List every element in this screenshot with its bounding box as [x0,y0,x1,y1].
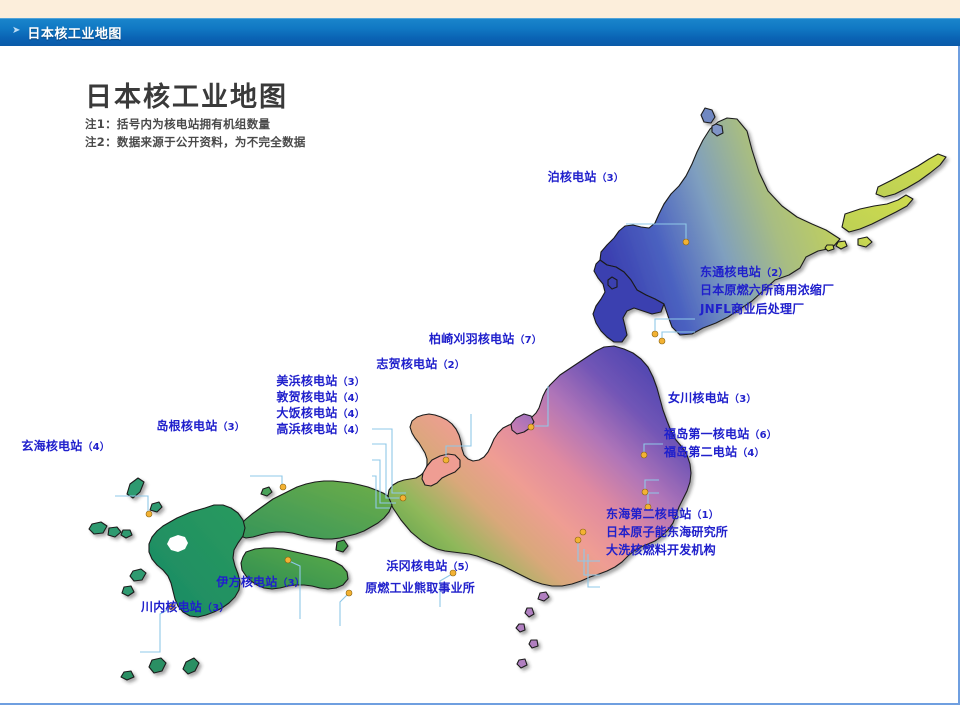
marker-ikata [285,557,291,563]
island-tanegashima [183,658,199,674]
label-fukushima-daiichi-count: （6） [749,430,777,441]
marker-rokkasho [659,338,665,344]
label-hamaoka-text: 浜冈核电站 [386,559,447,573]
island-kozushima [516,624,525,632]
label-shimane[interactable]: 岛根核电站（3） [80,419,245,435]
label-sendai-text: 川内核电站 [141,600,202,614]
marker-higashidori [652,331,658,337]
island-rebun [701,108,715,123]
label-tomari-text: 泊核电站 [548,170,597,184]
top-cream-strip [0,0,960,18]
island-oki [261,487,272,496]
label-takahama-count: （4） [337,425,365,436]
marker-tomari [683,239,689,245]
marker-genkai [146,511,152,517]
content-stage: 日本核工业地图 注1：括号内为核电站拥有机组数量 注2：数据来源于公开资料，为不… [0,46,958,703]
label-kumatori[interactable]: 原燃工业熊取事业所 [200,581,475,597]
island-tsushima [127,478,144,498]
label-shika-count: （2） [437,360,465,371]
label-jnfl-text: JNFL商业后处理厂 [700,302,804,316]
label-onagawa[interactable]: 女川核电站（3） [668,391,757,407]
label-genkai-count: （4） [82,442,110,453]
label-shika[interactable]: 志贺核电站（2） [300,357,465,373]
label-higashidori[interactable]: 东通核电站（2） [700,265,789,281]
region-chugoku [238,481,392,539]
label-fukushima-daini[interactable]: 福岛第二电站（4） [664,445,765,461]
label-kashiwazaki-text: 柏崎刈羽核电站 [429,332,514,346]
label-takahama-text: 高浜核电站 [276,422,337,436]
label-jnfl-reprocessing[interactable]: JNFL商业后处理厂 [700,302,804,318]
label-rokkasho-enrichment[interactable]: 日本原燃六所商用浓缩厂 [700,283,834,299]
island-habomai [836,241,847,249]
island-niijima [525,608,534,617]
chevron-right-icon: ➤ [12,26,20,36]
label-fukushima-daiichi[interactable]: 福岛第一核电站（6） [664,427,777,443]
label-mihama[interactable]: 美浜核电站（3） [180,374,365,390]
marker-oarai [580,529,586,535]
label-tokai-research-text: 日本原子能东海研究所 [606,525,728,539]
label-rokkasho-text: 日本原燃六所商用浓缩厂 [700,283,834,297]
label-genkai[interactable]: 玄海核电站（4） [0,439,110,455]
island-kunashiri [842,195,913,232]
island-koshiki [122,586,134,596]
island-awaji [336,540,348,552]
island-goto-1 [89,522,107,534]
label-tokai-2[interactable]: 东海第二核电站（1） [606,507,719,523]
marker-onagawa [641,452,647,458]
label-onagawa-text: 女川核电站 [668,391,729,405]
leader-shimane [250,476,282,486]
island-miyakejima [529,640,538,648]
label-higashidori-text: 东通核电站 [700,265,761,279]
label-tokai-research[interactable]: 日本原子能东海研究所 [606,525,728,541]
label-shika-text: 志贺核电站 [376,357,437,371]
label-fukushima-daini-text: 福岛第二电站 [664,445,737,459]
label-higashidori-count: （2） [761,268,789,279]
label-hamaoka[interactable]: 浜冈核电站（5） [315,559,475,575]
label-genkai-text: 玄海核电站 [21,439,82,453]
label-ohi-text: 大饭核电站 [276,406,337,420]
marker-fukushima1 [642,489,648,495]
island-iki [150,502,162,512]
label-tomari-count: （3） [596,173,624,184]
label-fukushima-daiichi-text: 福岛第一核电站 [664,427,749,441]
label-onagawa-count: （3） [729,394,757,405]
label-fukushima-daini-count: （4） [737,448,765,459]
island-izu-oshima [538,592,549,601]
marker-shika [443,457,449,463]
label-tomari[interactable]: 泊核电站（3） [409,170,624,186]
label-kumatori-text: 原燃工业熊取事业所 [365,581,475,595]
label-ohi-count: （4） [337,409,365,420]
label-shimane-text: 岛根核电站 [156,419,217,433]
label-tokai-2-count: （1） [691,510,719,521]
island-shikotan [858,237,872,247]
label-mihama-count: （3） [337,377,365,388]
window-titlebar: ➤ 日本核工业地图 [0,18,960,46]
label-tsuruga-text: 敦贺核电站 [276,390,337,404]
island-goto-2 [108,527,121,537]
label-tsuruga[interactable]: 敦贺核电站（4） [180,390,365,406]
titlebar-title: 日本核工业地图 [27,23,122,42]
label-oarai[interactable]: 大洗核燃料开发机构 [606,543,716,559]
marker-wakasa-cluster [400,495,406,501]
label-tsuruga-count: （4） [337,393,365,404]
label-mihama-text: 美浜核电站 [276,374,337,388]
label-shimane-count: （3） [217,422,245,433]
label-sendai[interactable]: 川内核电站（3） [141,600,230,616]
label-tokai-2-text: 东海第二核电站 [606,507,691,521]
island-kuchinoerabu [121,671,134,680]
island-etorofu [876,154,946,197]
island-goto-3 [121,530,132,538]
label-hamaoka-count: （5） [447,562,475,573]
label-kashiwazaki-count: （7） [514,335,542,346]
island-habomai-2 [825,245,834,251]
island-yakushima [149,658,166,673]
marker-tokai2 [575,537,581,543]
label-oarai-text: 大洗核燃料开发机构 [606,543,716,557]
page-root: ➤ 日本核工业地图 日本核工业地图 注1：括号内为核电站拥有机组数量 注2：数据… [0,0,958,703]
label-kashiwazaki-kariwa[interactable]: 柏崎刈羽核电站（7） [310,332,542,348]
leader-kumatori [340,594,348,626]
island-hachijojima [517,659,527,668]
marker-kashiwazaki [528,424,534,430]
label-sendai-count: （3） [202,603,230,614]
marker-shimane [280,484,286,490]
leader-genkai [115,496,148,512]
